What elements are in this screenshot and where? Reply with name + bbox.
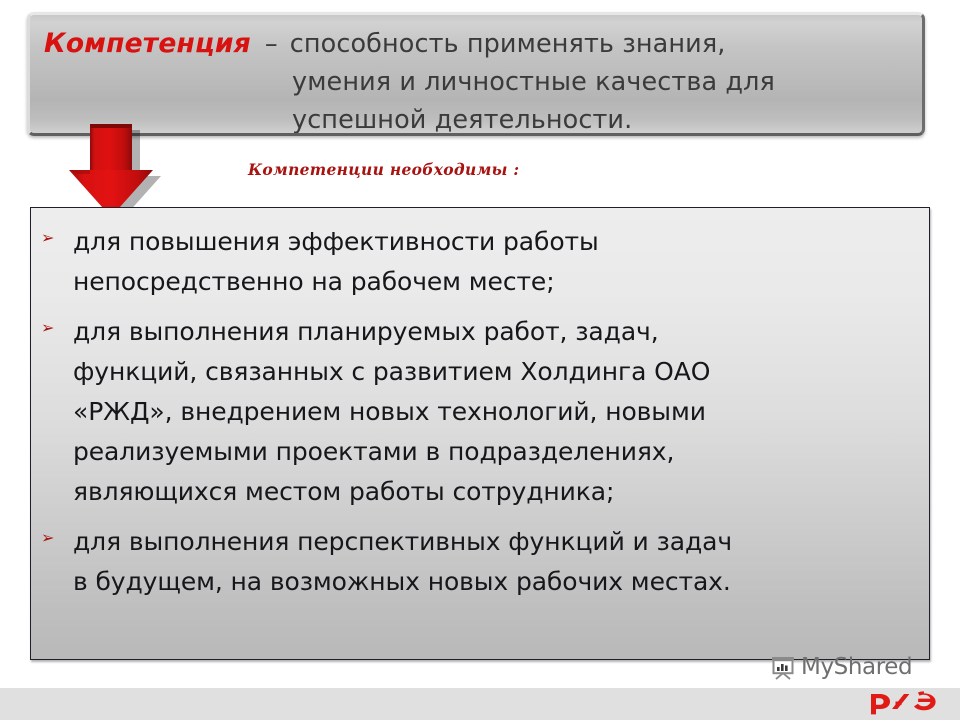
definition-header-inner: Компетенция–способность применять знания… [30, 15, 922, 133]
list-item-line: в будущем, на возможных новых рабочих ме… [73, 562, 911, 602]
list-item: ➢ для повышения эффективности работы неп… [41, 222, 911, 302]
arrow-bullet-icon: ➢ [41, 522, 73, 547]
list-item-text: для выполнения планируемых работ, задач,… [73, 312, 911, 512]
arrow-bullet-icon: ➢ [41, 312, 73, 337]
list-item-line: для повышения эффективности работы [73, 222, 911, 262]
list-item-text: для выполнения перспективных функций и з… [73, 522, 911, 602]
slide-canvas: Компетенция–способность применять знания… [0, 0, 960, 720]
list-item-line: являющихся местом работы сотрудника; [73, 472, 911, 512]
definition-header-box: Компетенция–способность применять знания… [27, 12, 925, 136]
presentation-board-icon [770, 654, 796, 680]
definition-dash: – [265, 29, 278, 59]
definition-line-3: успешной деятельности. [44, 101, 908, 136]
list-item-line: «РЖД», внедрением новых технологий, новы… [73, 392, 911, 432]
list-item-text: для повышения эффективности работы непос… [73, 222, 911, 302]
definition-line-1: Компетенция–способность применять знания… [44, 25, 908, 63]
rzd-logo-icon [868, 688, 942, 716]
list-item-line: непосредственно на рабочем месте; [73, 262, 911, 302]
bottom-strip [0, 688, 960, 720]
myshared-watermark: MyShared [770, 654, 912, 680]
list-item: ➢ для выполнения перспективных функций и… [41, 522, 911, 602]
definition-line-2: умения и личностные качества для [44, 63, 908, 101]
list-item-line: для выполнения перспективных функций и з… [73, 522, 911, 562]
definition-line-1-text: способность применять знания, [290, 29, 726, 59]
arrow-bullet-icon: ➢ [41, 222, 73, 247]
term-keyword: Компетенция [44, 28, 251, 59]
list-item-line: для выполнения планируемых работ, задач, [73, 312, 911, 352]
intro-caption: Компетенции необходимы : [248, 160, 519, 179]
list-item-line: функций, связанных с развитием Холдинга … [73, 352, 911, 392]
list-item: ➢ для выполнения планируемых работ, зада… [41, 312, 911, 512]
myshared-watermark-text: MyShared [801, 654, 912, 680]
list-item-line: реализуемыми проектами в подразделениях, [73, 432, 911, 472]
bullet-content-box: ➢ для повышения эффективности работы неп… [30, 207, 930, 660]
